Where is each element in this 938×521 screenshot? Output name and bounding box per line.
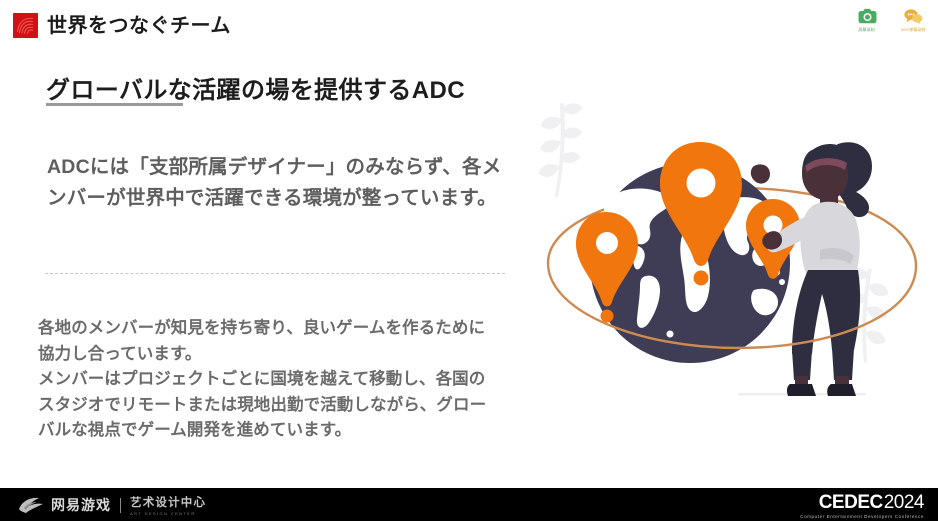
cedec-subtitle: Computer Entertainment Developers Confer… <box>800 514 924 519</box>
shoe-right <box>827 384 856 396</box>
adc-center-name-main: 艺术设计中心 <box>130 494 206 510</box>
lead-paragraph: ADCには「支部所属デザイナー」のみならず、各メンバーが世界中で活躍できる環境が… <box>47 152 517 214</box>
camera-watermark-label: 屏幕录制 <box>859 27 875 32</box>
cedec-wordmark: CEDEC <box>819 493 883 512</box>
footer-separator <box>120 498 121 513</box>
netease-wing-logo-icon <box>18 496 44 514</box>
cedec-logo: CEDEC 2024 Computer Entertainment Develo… <box>800 493 924 519</box>
body-paragraph-2: メンバーはプロジェクトごとに国境を越えて移動し、各国のスタジオでリモートまたは現… <box>38 367 488 444</box>
netease-spiral-logo-icon <box>13 13 38 38</box>
bullet-comment-watermark: SNS弹幕录制 <box>896 6 930 32</box>
slide-root: 世界をつなぐチーム 屏幕录制 <box>0 0 938 521</box>
page-title: 世界をつなぐチーム <box>47 9 231 38</box>
cedec-logo-row: CEDEC 2024 <box>819 493 924 512</box>
camera-watermark: 屏幕录制 <box>850 6 884 32</box>
netease-brand-name: 网易游戏 <box>51 495 111 515</box>
heading-underline <box>46 103 183 106</box>
slide-header: 世界をつなぐチーム 屏幕录制 <box>0 0 938 48</box>
cedec-year: 2024 <box>884 493 924 512</box>
slide-footer: 网易游戏 艺术设计中心 ART DESIGN CENTER CEDEC 2024… <box>0 488 938 521</box>
speech-bubble-icon <box>903 6 923 26</box>
bullet-comment-watermark-label: SNS弹幕录制 <box>901 27 926 32</box>
dashed-divider <box>45 273 505 274</box>
footer-brand: 网易游戏 艺术设计中心 ART DESIGN CENTER <box>18 494 206 516</box>
body-text-block: 各地のメンバーが知見を持ち寄り、良いゲームを作るために協力し合っています。 メン… <box>38 316 488 444</box>
global-team-illustration <box>520 100 938 410</box>
body-paragraph-1: 各地のメンバーが知見を持ち寄り、良いゲームを作るために協力し合っています。 <box>38 316 488 367</box>
recording-watermark-icons: 屏幕录制 SNS弹幕录制 <box>850 6 930 32</box>
section-heading: グローバルな活躍の場を提供するADC <box>46 70 465 105</box>
camera-icon <box>857 6 877 26</box>
adc-center-name-sub: ART DESIGN CENTER <box>130 511 206 516</box>
shoe-left <box>787 384 816 396</box>
adc-center-name: 艺术设计中心 ART DESIGN CENTER <box>130 494 206 516</box>
